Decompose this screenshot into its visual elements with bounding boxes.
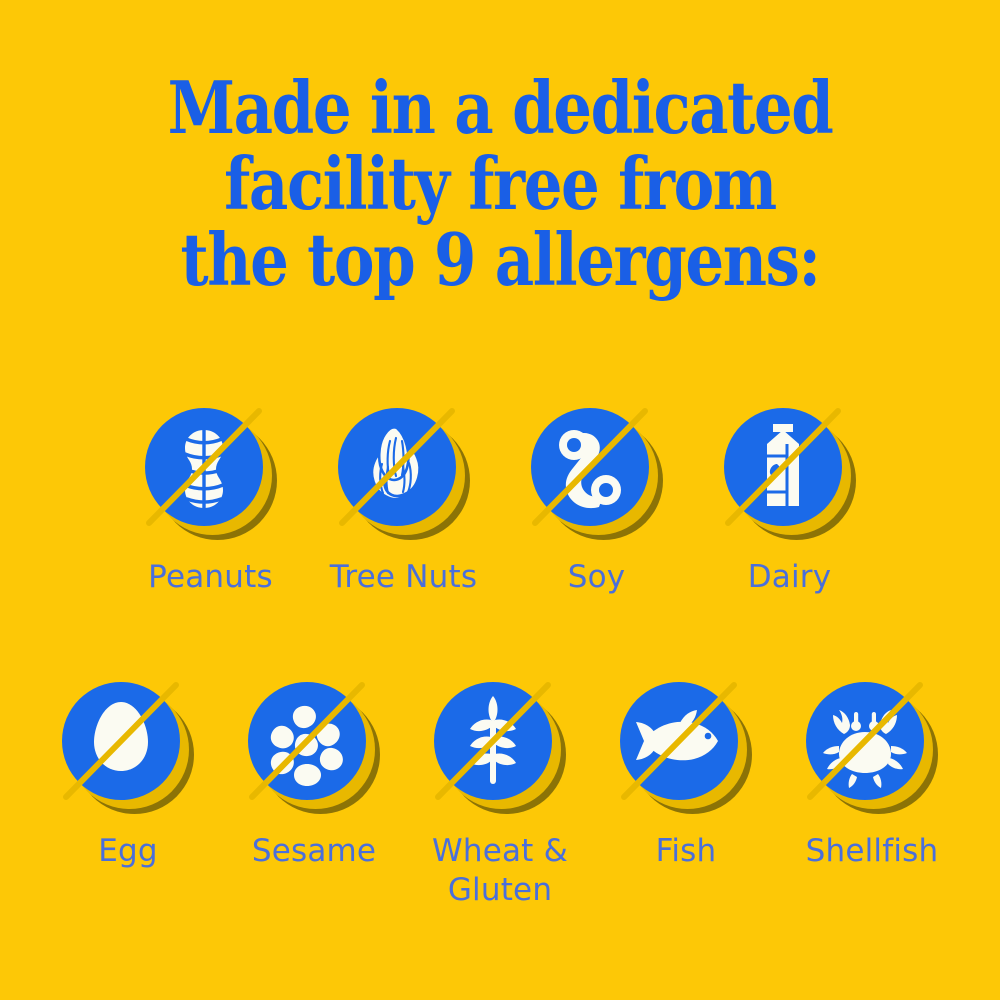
egg-icon: [62, 682, 180, 800]
allergen-label: Peanuts: [148, 558, 273, 597]
allergen-row-1: Peanuts Tree Nuts: [0, 408, 1000, 597]
allergen-badge: [806, 682, 938, 814]
allergen-label: Egg: [98, 832, 158, 871]
allergen-badge: [62, 682, 194, 814]
allergen-badge: [620, 682, 752, 814]
crab-icon: [806, 682, 924, 800]
wheat-stalk-icon: [434, 682, 552, 800]
allergen-item-wheat-gluten: Wheat & Gluten: [407, 682, 593, 910]
allergen-item-sesame: Sesame: [221, 682, 407, 871]
allergen-label: Wheat & Gluten: [432, 832, 568, 910]
allergen-badge: [724, 408, 856, 540]
allergen-badge: [248, 682, 380, 814]
almond-icon: [338, 408, 456, 526]
headline-line-1: Made in a dedicated: [30, 70, 970, 146]
peanut-icon: [145, 408, 263, 526]
allergen-badge: [531, 408, 663, 540]
allergen-badge: [338, 408, 470, 540]
allergen-free-poster: Made in a dedicated facility free from t…: [0, 0, 1000, 1000]
allergen-item-fish: Fish: [593, 682, 779, 871]
allergen-item-egg: Egg: [35, 682, 221, 871]
allergen-label: Shellfish: [806, 832, 939, 871]
allergen-badge: [434, 682, 566, 814]
allergen-label: Sesame: [252, 832, 376, 871]
allergen-label: Tree Nuts: [330, 558, 477, 597]
fish-icon: [620, 682, 738, 800]
page-title: Made in a dedicated facility free from t…: [30, 70, 970, 298]
allergen-item-tree-nuts: Tree Nuts: [307, 408, 500, 597]
allergen-item-shellfish: Shellfish: [779, 682, 965, 871]
allergen-badge: [145, 408, 277, 540]
allergen-label: Fish: [656, 832, 717, 871]
allergen-item-peanuts: Peanuts: [114, 408, 307, 597]
allergen-label: Soy: [568, 558, 626, 597]
milk-carton-icon: [724, 408, 842, 526]
allergen-label: Dairy: [748, 558, 832, 597]
headline-line-2: facility free from: [30, 146, 970, 222]
soybean-icon: [531, 408, 649, 526]
headline-line-3: the top 9 allergens:: [30, 222, 970, 298]
sesame-seeds-icon: [248, 682, 366, 800]
allergen-item-dairy: Dairy: [693, 408, 886, 597]
allergen-row-2: Egg Sesame: [0, 682, 1000, 910]
allergen-item-soy: Soy: [500, 408, 693, 597]
